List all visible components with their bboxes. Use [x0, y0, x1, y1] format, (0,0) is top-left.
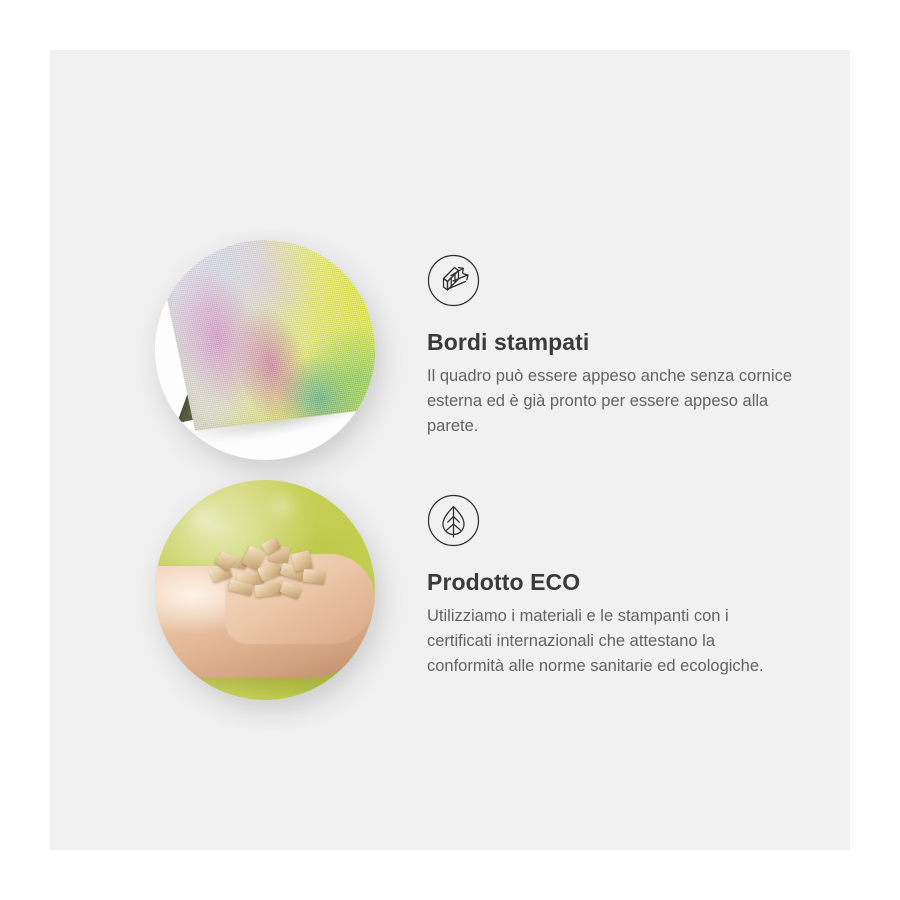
- feature-copy-bordi-stampati: Bordi stampati Il quadro può essere appe…: [427, 254, 807, 439]
- content-panel: Bordi stampati Il quadro può essere appe…: [50, 50, 850, 850]
- canvas-corner-photo: [155, 240, 375, 460]
- canvas-artwork: [155, 240, 375, 460]
- canvas-wrapped-edge-icon: [427, 254, 480, 307]
- feature-title: Bordi stampati: [427, 329, 807, 357]
- feature-description: Il quadro può essere appeso anche senza …: [427, 364, 793, 439]
- hands-wood-chips-photo: [155, 480, 375, 700]
- feature-description: Utilizziamo i materiali e le stampanti c…: [427, 604, 793, 679]
- feature-prodotto-eco: Prodotto ECO Utilizziamo i materiali e l…: [50, 470, 850, 790]
- feature-copy-prodotto-eco: Prodotto ECO Utilizziamo i materiali e l…: [427, 494, 807, 679]
- product-feature-page: Bordi stampati Il quadro può essere appe…: [0, 0, 900, 900]
- wood-chips-pile: [207, 538, 333, 610]
- canvas-print-face: [155, 240, 375, 431]
- feature-bordi-stampati: Bordi stampati Il quadro può essere appe…: [50, 190, 850, 510]
- leaf-icon: [427, 494, 480, 547]
- eco-artwork: [155, 480, 375, 700]
- feature-title: Prodotto ECO: [427, 569, 807, 597]
